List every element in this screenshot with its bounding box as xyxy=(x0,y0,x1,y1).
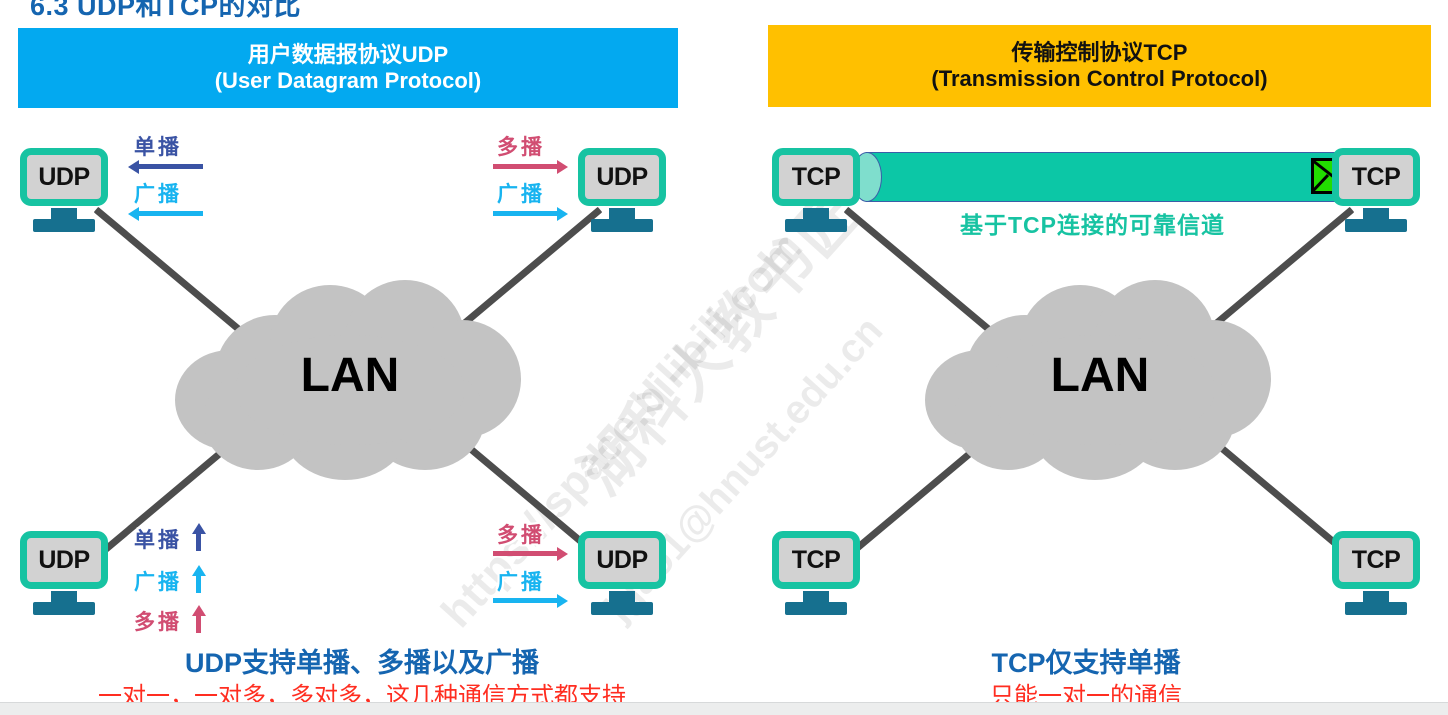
monitor-neck xyxy=(1363,208,1389,219)
arrow-label-multicast-bottom-right: 多播 xyxy=(497,519,545,549)
arrow-broadcast-bottom-right xyxy=(493,598,568,603)
tcp-lan-cloud: LAN xyxy=(925,280,1275,480)
arrow-broadcast-bottom-left xyxy=(196,565,201,593)
udp-header-banner: 用户数据报协议UDP (User Datagram Protocol) xyxy=(18,28,678,108)
udp-cloud-label: LAN xyxy=(175,348,525,403)
arrow-label-broadcast-top-right: 广播 xyxy=(497,178,545,208)
monitor-neck xyxy=(609,208,635,219)
monitor-neck xyxy=(51,591,77,602)
slide-canvas: 6.3 UDP和TCP的对比 湖科大教书匠 https://space.bili… xyxy=(0,0,1448,715)
tcp-node-label: TCP xyxy=(772,531,860,589)
udp-node-label: UDP xyxy=(20,148,108,206)
page-title: 6.3 UDP和TCP的对比 xyxy=(30,0,301,23)
tcp-banner-line1: 传输控制协议TCP xyxy=(1011,40,1187,66)
udp-node-label: UDP xyxy=(20,531,108,589)
udp-node-label: UDP xyxy=(578,148,666,206)
arrow-label-unicast-top-left: 单播 xyxy=(134,131,182,161)
tcp-caption-main: TCP仅支持单播 xyxy=(724,641,1448,680)
arrow-label-broadcast-bottom-right: 广播 xyxy=(497,566,545,596)
tcp-banner-line2: (Transmission Control Protocol) xyxy=(931,66,1267,92)
udp-caption-main: UDP支持单播、多播以及广播 xyxy=(0,641,724,680)
footer-bar xyxy=(0,703,1448,715)
monitor-neck xyxy=(51,208,77,219)
tcp-node-top-right[interactable]: TCP xyxy=(1332,148,1420,232)
tcp-node-bottom-right[interactable]: TCP xyxy=(1332,531,1420,615)
udp-node-bottom-right[interactable]: UDP xyxy=(578,531,666,615)
tcp-cloud-label: LAN xyxy=(925,348,1275,403)
monitor-base xyxy=(785,602,847,615)
monitor-neck xyxy=(609,591,635,602)
monitor-base xyxy=(591,219,653,232)
monitor-neck xyxy=(1363,591,1389,602)
monitor-base xyxy=(1345,602,1407,615)
arrow-label-broadcast-bottom-left: 广播 xyxy=(134,566,182,596)
udp-banner-line2: (User Datagram Protocol) xyxy=(215,68,482,94)
arrow-broadcast-top-right xyxy=(493,211,568,216)
monitor-base xyxy=(1345,219,1407,232)
tcp-header-banner: 传输控制协议TCP (Transmission Control Protocol… xyxy=(768,25,1431,107)
monitor-base xyxy=(591,602,653,615)
monitor-neck xyxy=(803,591,829,602)
tcp-node-bottom-left[interactable]: TCP xyxy=(772,531,860,615)
monitor-base xyxy=(33,602,95,615)
arrow-label-unicast-bottom-left: 单播 xyxy=(134,524,182,554)
arrow-label-broadcast-top-left: 广播 xyxy=(134,178,182,208)
udp-banner-line1: 用户数据报协议UDP xyxy=(248,42,448,68)
udp-node-label: UDP xyxy=(578,531,666,589)
arrow-broadcast-top-left xyxy=(128,211,203,216)
arrow-multicast-bottom-left xyxy=(196,605,201,633)
udp-node-top-right[interactable]: UDP xyxy=(578,148,666,232)
arrow-label-multicast-bottom-left: 多播 xyxy=(134,606,182,636)
arrow-multicast-top-right xyxy=(493,164,568,169)
tcp-node-label: TCP xyxy=(772,148,860,206)
arrow-label-multicast-top-right: 多播 xyxy=(497,131,545,161)
udp-node-bottom-left[interactable]: UDP xyxy=(20,531,108,615)
udp-node-top-left[interactable]: UDP xyxy=(20,148,108,232)
monitor-base xyxy=(785,219,847,232)
monitor-neck xyxy=(803,208,829,219)
tcp-reliable-channel-pipe xyxy=(866,152,1382,202)
arrow-unicast-bottom-left xyxy=(196,523,201,551)
udp-lan-cloud: LAN xyxy=(175,280,525,480)
arrow-multicast-bottom-right xyxy=(493,551,568,556)
tcp-node-top-left[interactable]: TCP xyxy=(772,148,860,232)
arrow-unicast-top-left xyxy=(128,164,203,169)
tcp-pipe-label: 基于TCP连接的可靠信道 xyxy=(960,206,1225,240)
tcp-node-label: TCP xyxy=(1332,531,1420,589)
tcp-node-label: TCP xyxy=(1332,148,1420,206)
monitor-base xyxy=(33,219,95,232)
